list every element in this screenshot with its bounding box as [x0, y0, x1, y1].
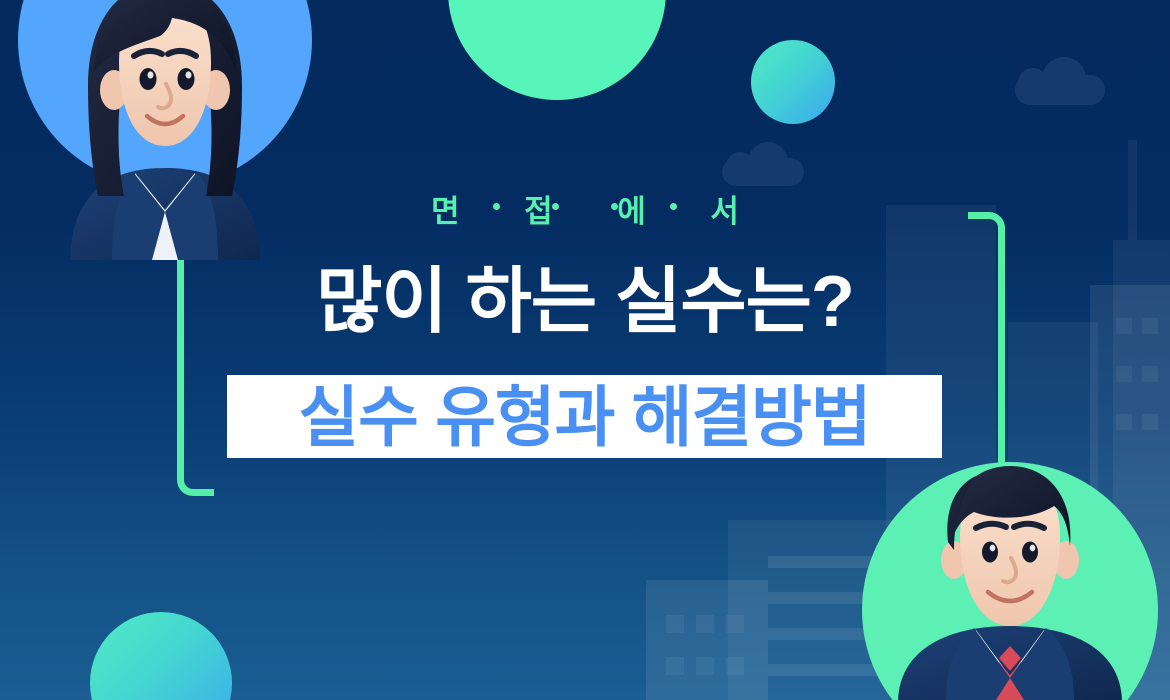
title-line-1: 많이 하는 실수는?: [0, 266, 1170, 338]
female-avatar-illustration: [0, 0, 330, 260]
male-avatar: [850, 450, 1170, 700]
banner-canvas: 면 접 에 서 많이 하는 실수는? 실수 유형과 해결방법: [0, 0, 1170, 700]
title-line-1-normal: 많이 하는: [316, 262, 615, 342]
title-line-1-emphasis: 실수는?: [615, 262, 854, 342]
title-line-2: 실수 유형과 해결방법: [227, 375, 942, 458]
male-avatar-illustration: [850, 450, 1170, 700]
female-avatar: [0, 0, 330, 260]
